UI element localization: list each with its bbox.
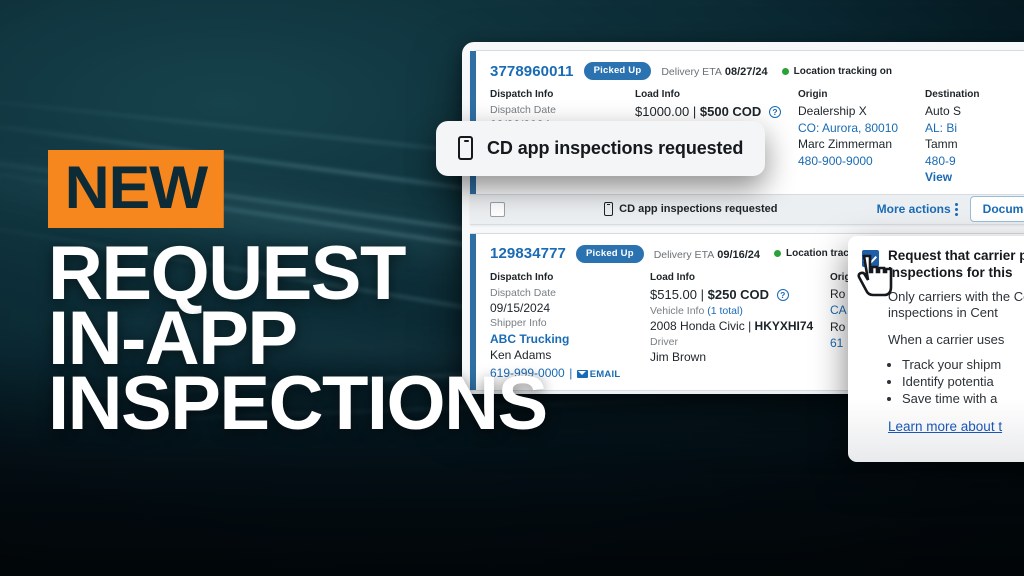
popover-title: Request that carrier perform inspections… bbox=[888, 248, 1024, 282]
load-amount-row: $515.00 | $250 COD ? bbox=[650, 286, 820, 304]
status-dot-icon bbox=[782, 68, 789, 75]
eta-value: 09/16/24 bbox=[717, 249, 760, 261]
load-amount: $1000.00 bbox=[635, 104, 689, 119]
load-cod: $250 COD bbox=[708, 287, 769, 302]
load-info-column: Load Info $515.00 | $250 COD ? Vehicle I… bbox=[650, 272, 830, 382]
more-actions-button[interactable]: More actions bbox=[877, 202, 951, 216]
card-header: 3778960011 Picked Up Delivery ETA08/27/2… bbox=[490, 60, 1024, 82]
origin-contact: Marc Zimmerman bbox=[798, 136, 915, 153]
load-separator: | bbox=[701, 287, 704, 302]
vehicle-row: 2008 Honda Civic | HKYXHI74 bbox=[650, 318, 820, 335]
origin-column: Origin Dealership X CO: Aurora, 80010 Ma… bbox=[798, 89, 925, 186]
new-badge: NEW bbox=[48, 150, 224, 228]
destination-location[interactable]: AL: Bi bbox=[925, 120, 1024, 137]
destination-column: Destination Auto S AL: Bi Tamm 480-9 Vie… bbox=[925, 89, 1024, 186]
destination-title: Destination bbox=[925, 89, 1024, 100]
tracking-status: Location tracking on bbox=[782, 66, 892, 77]
status-badge: Picked Up bbox=[584, 62, 652, 80]
load-amount-row: $1000.00 | $500 COD ? bbox=[635, 103, 788, 121]
driver-name: Jim Brown bbox=[650, 349, 820, 366]
origin-title: Origin bbox=[798, 89, 915, 100]
origin-company: Dealership X bbox=[798, 103, 915, 120]
load-info-title: Load Info bbox=[635, 89, 788, 100]
origin-phone[interactable]: 480-900-9000 bbox=[798, 153, 915, 170]
eta-label: Delivery ETA bbox=[654, 249, 714, 261]
destination-company: Auto S bbox=[925, 103, 1024, 120]
help-icon[interactable]: ? bbox=[769, 106, 781, 118]
headline-line: INSPECTIONS bbox=[48, 372, 648, 437]
learn-more-link[interactable]: Learn more about t bbox=[888, 419, 1024, 434]
popover-paragraph-1: Only carriers with the Central inspectio… bbox=[888, 289, 1024, 321]
vehicle-separator: | bbox=[748, 319, 751, 333]
eta-group: Delivery ETA08/27/24 bbox=[661, 62, 767, 80]
load-amount: $515.00 bbox=[650, 287, 697, 302]
vehicle-vin: HKYXHI74 bbox=[755, 319, 814, 333]
shipment-id[interactable]: 3778960011 bbox=[490, 63, 574, 80]
eta-label: Delivery ETA bbox=[661, 66, 721, 78]
origin-location[interactable]: CO: Aurora, 80010 bbox=[798, 120, 915, 137]
dispatch-info-title: Dispatch Info bbox=[490, 89, 625, 100]
kebab-menu-icon[interactable] bbox=[955, 203, 958, 216]
dispatch-date-label: Dispatch Date bbox=[490, 103, 625, 117]
list-item: Save time with a bbox=[902, 391, 1024, 408]
promo-text-block: NEW REQUEST IN-APP INSPECTIONS bbox=[48, 150, 648, 437]
load-info-title: Load Info bbox=[650, 272, 820, 283]
list-item: Identify potentia bbox=[902, 374, 1024, 391]
destination-phone[interactable]: 480-9 bbox=[925, 153, 1024, 170]
help-icon[interactable]: ? bbox=[777, 289, 789, 301]
eta-value: 08/27/24 bbox=[725, 66, 768, 78]
eta-group: Delivery ETA09/16/24 bbox=[654, 245, 760, 263]
vehicle-description: 2008 Honda Civic bbox=[650, 319, 745, 333]
promo-headline: REQUEST IN-APP INSPECTIONS bbox=[48, 242, 648, 437]
tracking-label: Location tracking on bbox=[794, 66, 892, 77]
destination-contact: Tamm bbox=[925, 136, 1024, 153]
destination-view-link[interactable]: View bbox=[925, 169, 1024, 186]
load-cod: $500 COD bbox=[700, 104, 761, 119]
status-dot-icon bbox=[774, 250, 781, 257]
promo-screenshot: 3778960011 Picked Up Delivery ETA08/27/2… bbox=[0, 0, 1024, 576]
popover-paragraph-2: When a carrier uses bbox=[888, 332, 1024, 348]
vehicle-info-row: Vehicle Info (1 total) bbox=[650, 304, 820, 318]
list-item: Track your shipm bbox=[902, 357, 1024, 374]
vehicle-count: (1 total) bbox=[707, 305, 743, 317]
popover-benefits-list: Track your shipm Identify potentia Save … bbox=[902, 357, 1024, 408]
load-separator: | bbox=[693, 104, 696, 119]
driver-label: Driver bbox=[650, 335, 820, 349]
documents-button[interactable]: Documents bbox=[970, 196, 1024, 222]
vehicle-info-label: Vehicle Info bbox=[650, 305, 704, 317]
pointer-hand-cursor bbox=[852, 252, 894, 300]
